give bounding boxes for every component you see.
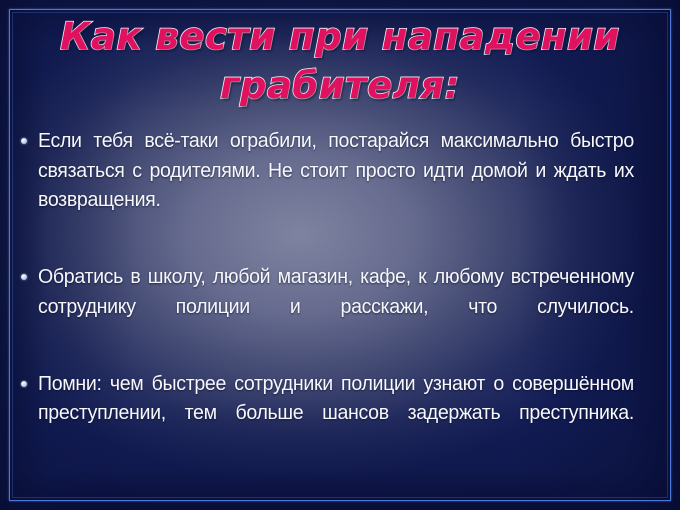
bullet-dot-icon bbox=[21, 274, 27, 280]
list-item-text: Помни: чем быстрее сотрудники полиции уз… bbox=[38, 369, 634, 458]
slide-title-line-2: грабителя: bbox=[0, 61, 680, 110]
list-item: Если тебя всё-таки ограбили, постарайся … bbox=[16, 126, 662, 244]
list-item: Помни: чем быстрее сотрудники полиции уз… bbox=[16, 369, 662, 458]
list-item: Обратись в школу, любой магазин, кафе, к… bbox=[16, 262, 662, 351]
list-item-text: Обратись в школу, любой магазин, кафе, к… bbox=[38, 262, 634, 351]
slide-title-line-1: Как вести при нападении bbox=[0, 12, 680, 61]
bullet-dot-icon bbox=[21, 381, 27, 387]
slide-body: Если тебя всё-таки ограбили, постарайся … bbox=[16, 126, 662, 457]
presentation-slide: Как вести при нападении грабителя: Если … bbox=[0, 0, 680, 510]
list-item-text: Если тебя всё-таки ограбили, постарайся … bbox=[38, 126, 634, 244]
slide-title: Как вести при нападении грабителя: bbox=[0, 12, 680, 110]
bullet-dot-icon bbox=[21, 138, 27, 144]
